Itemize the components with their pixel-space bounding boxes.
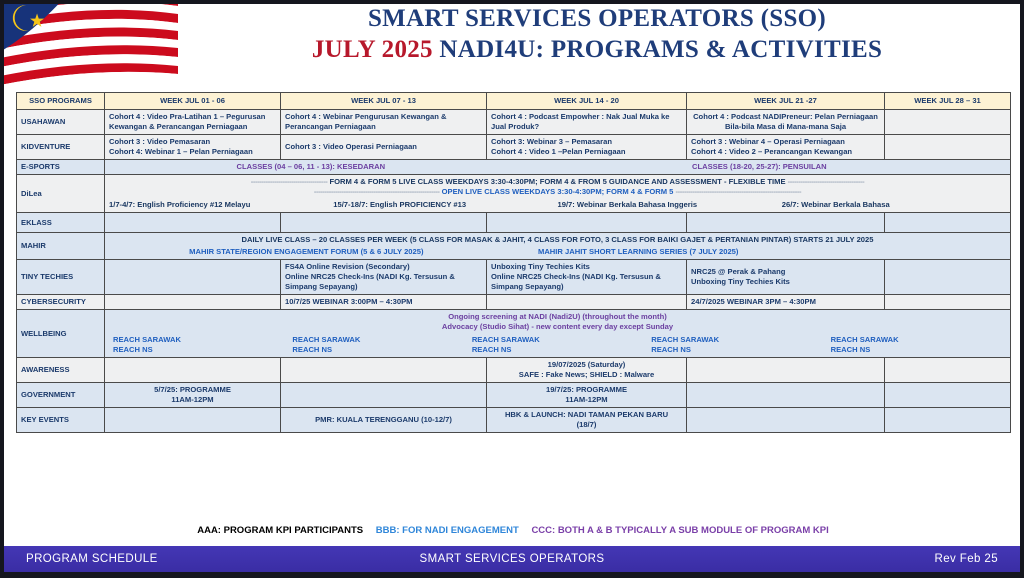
cell-cybersecurity-w5 [885,295,1011,310]
cell-kidventure-w2: Cohort 3 : Video Operasi Perniagaan [281,135,487,160]
cell-tiny-techies-w2-line2: Online NRC25 Check-Ins (NADI Kg. Tersusu… [285,272,482,292]
cell-kidventure-w1-line1: Cohort 3 : Video Pemasaran [109,137,276,147]
dilea-banner-1: ------------------------------------ FOR… [109,177,1006,187]
cell-government-w3: 19/7/25: PROGRAMME 11AM-12PM [487,383,687,408]
dash-decoration-right-2: ----------------------------------------… [676,187,802,196]
row-label-government: GOVERNMENT [17,383,105,408]
wellbeing-col-3-a: REACH SARAWAK [472,335,647,345]
legend-item-ccc: CCC: BOTH A & B TYPICALLY A SUB MODULE O… [531,525,828,536]
cell-awareness-w1 [105,358,281,383]
right-letterbox [1020,0,1024,578]
cell-key-events-w2: PMR: KUALA TERENGGANU (10-12/7) [281,408,487,433]
col-header-week3: WEEK JUL 14 - 20 [487,93,687,110]
malaysia-flag-icon [0,0,178,88]
cell-wellbeing-span: Ongoing screening at NADI (Nadi2U) (thro… [105,310,1011,358]
wellbeing-reach-grid: REACH SARAWAK REACH NS REACH SARAWAK REA… [109,335,1006,355]
wellbeing-col-3-b: REACH NS [472,345,647,355]
title-block: SMART SERVICES OPERATORS (SSO) JULY 2025… [180,4,1014,65]
dash-decoration-right: ------------------------------------ [788,177,865,186]
cell-kidventure-w4: Cohort 3 : Webinar 4 – Operasi Perniagaa… [687,135,885,160]
footer-bar: PROGRAM SCHEDULE SMART SERVICES OPERATOR… [0,546,1024,572]
mahir-series-text: MAHIR JAHIT SHORT LEARNING SERIES (7 JUL… [504,247,773,257]
cell-tiny-techies-w4: NRC25 @ Perak & Pahang Unboxing Tiny Tec… [687,260,885,295]
row-label-cybersecurity: CYBERSECURITY [17,295,105,310]
row-label-awareness: AWARENESS [17,358,105,383]
cell-usahawan-w3: Cohort 4 : Podcast Empowher : Nak Jual M… [487,110,687,135]
table-row-awareness: AWARENESS 19/07/2025 (Saturday) SAFE : F… [17,358,1011,383]
mahir-forum-text: MAHIR STATE/REGION ENGAGEMENT FORUM (5 &… [109,247,504,257]
table-row-wellbeing: WELLBEING Ongoing screening at NADI (Nad… [17,310,1011,358]
cell-cybersecurity-w4: 24/7/2025 WEBINAR 3PM – 4:30PM [687,295,885,310]
dash-decoration-left: ------------------------------------ [251,177,328,186]
footer-revision-label: Rev Feb 25 [935,553,998,565]
cell-government-w4 [687,383,885,408]
cell-esports-span: CLASSES (04 – 06, 11 - 13): KESEDARAN CL… [105,160,1011,175]
cell-kidventure-w3-line1: Cohort 3: Webinar 3 – Pemasaran [491,137,682,147]
cell-key-events-w4 [687,408,885,433]
cell-tiny-techies-w5 [885,260,1011,295]
dilea-item-4: 26/7: Webinar Berkala Bahasa [782,200,1006,210]
cell-government-w2 [281,383,487,408]
wellbeing-col-4-a: REACH SARAWAK [651,335,826,345]
wellbeing-col-4: REACH SARAWAK REACH NS [647,335,826,355]
dash-decoration-left-2: ----------------------------------------… [314,187,440,196]
row-label-eklass: EKLASS [17,213,105,233]
cell-kidventure-w1-line2: Cohort 4: Webinar 1 – Pelan Perniagaan [109,147,276,157]
cell-key-events-w3: HBK & LAUNCH: NADI TAMAN PEKAN BARU (18/… [487,408,687,433]
cell-eklass-w1 [105,213,281,233]
row-label-usahawan: USAHAWAN [17,110,105,135]
table-row-mahir: MAHIR DAILY LIVE CLASS – 20 CLASSES PER … [17,233,1011,260]
cell-awareness-w5 [885,358,1011,383]
cell-usahawan-w2: Cohort 4 : Webinar Pengurusan Kewangan &… [281,110,487,135]
slide-header: SMART SERVICES OPERATORS (SSO) JULY 2025… [0,0,1024,88]
col-header-programs: SSO PROGRAMS [17,93,105,110]
cell-tiny-techies-w1 [105,260,281,295]
wellbeing-col-2-b: REACH NS [292,345,467,355]
row-label-key-events: KEY EVENTS [17,408,105,433]
cell-government-w1-line2: 11AM-12PM [109,395,276,405]
cell-tiny-techies-w3-line2: Online NRC25 Check-Ins (NADI Kg. Tersusu… [491,272,682,292]
schedule-table: SSO PROGRAMS WEEK JUL 01 - 06 WEEK JUL 0… [16,92,1011,433]
dilea-banner-1-text: FORM 4 & FORM 5 LIVE CLASS WEEKDAYS 3:30… [329,177,785,186]
cell-awareness-w4 [687,358,885,383]
cell-eklass-w4 [687,213,885,233]
cell-usahawan-w4: Cohort 4 : Podcast NADIPreneur: Pelan Pe… [687,110,885,135]
wellbeing-col-3: REACH SARAWAK REACH NS [468,335,647,355]
wellbeing-col-4-b: REACH NS [651,345,826,355]
page-title-subject: NADI4U: PROGRAMS & ACTIVITIES [433,36,882,63]
cell-esports-right: CLASSES (18-20, 25-27): PENSUILAN [513,162,1006,172]
cell-kidventure-w4-line2: Cohort 4 : Video 2 – Perancangan Kewanga… [691,147,880,157]
table-body: USAHAWAN Cohort 4 : Video Pra-Latihan 1 … [17,110,1011,433]
slide-root: SMART SERVICES OPERATORS (SSO) JULY 2025… [0,0,1024,578]
dilea-item-1: 1/7-4/7: English Proficiency #12 Melayu [109,200,333,210]
bottom-letterbox [0,572,1024,578]
table-row-eklass: EKLASS [17,213,1011,233]
cell-cybersecurity-w2: 10/7/25 WEBINAR 3:00PM – 4:30PM [281,295,487,310]
page-title-month: JULY 2025 [312,36,433,63]
left-letterbox [0,0,4,578]
cell-government-w1-line1: 5/7/25: PROGRAMME [109,385,276,395]
table-head: SSO PROGRAMS WEEK JUL 01 - 06 WEEK JUL 0… [17,93,1011,110]
wellbeing-col-5-a: REACH SARAWAK [831,335,1006,345]
cell-government-w1: 5/7/25: PROGRAMME 11AM-12PM [105,383,281,408]
cell-government-w3-line1: 19/7/25: PROGRAMME [491,385,682,395]
row-label-esports: E-SPORTS [17,160,105,175]
row-label-tiny-techies: TINY TECHIES [17,260,105,295]
table-row-government: GOVERNMENT 5/7/25: PROGRAMME 11AM-12PM 1… [17,383,1011,408]
row-label-mahir: MAHIR [17,233,105,260]
cell-key-events-w1 [105,408,281,433]
wellbeing-col-2-a: REACH SARAWAK [292,335,467,345]
wellbeing-col-1-b: REACH NS [113,345,288,355]
cell-mahir-span: DAILY LIVE CLASS – 20 CLASSES PER WEEK (… [105,233,1011,260]
dilea-item-3: 19/7: Webinar Berkala Bahasa Inggeris [558,200,782,210]
cell-government-w5 [885,383,1011,408]
cell-kidventure-w3: Cohort 3: Webinar 3 – Pemasaran Cohort 4… [487,135,687,160]
cell-government-w3-line2: 11AM-12PM [491,395,682,405]
cell-awareness-w2 [281,358,487,383]
dilea-banner-2: ----------------------------------------… [109,187,1006,197]
cell-dilea-span: ------------------------------------ FOR… [105,175,1011,213]
cell-cybersecurity-w3 [487,295,687,310]
wellbeing-col-5: REACH SARAWAK REACH NS [827,335,1006,355]
cell-tiny-techies-w2-line1: FS4A Online Revision (Secondary) [285,262,482,272]
schedule-table-container: SSO PROGRAMS WEEK JUL 01 - 06 WEEK JUL 0… [16,92,1010,433]
cell-eklass-w2 [281,213,487,233]
table-row-tiny-techies: TINY TECHIES FS4A Online Revision (Secon… [17,260,1011,295]
mahir-bottom-row: MAHIR STATE/REGION ENGAGEMENT FORUM (5 &… [109,247,1006,257]
cell-tiny-techies-w4-line2: Unboxing Tiny Techies Kits [691,277,880,287]
cell-eklass-w3 [487,213,687,233]
cell-tiny-techies-w4-line1: NRC25 @ Perak & Pahang [691,267,880,277]
legend-item-bbb: BBB: FOR NADI ENGAGEMENT [376,525,519,536]
wellbeing-col-1-a: REACH SARAWAK [113,335,288,345]
cell-key-events-w5 [885,408,1011,433]
cell-key-events-w3-line2: (18/7) [491,420,682,430]
col-header-week4: WEEK JUL 21 -27 [687,93,885,110]
cell-awareness-w3: 19/07/2025 (Saturday) SAFE : Fake News; … [487,358,687,383]
table-row-dilea: DiLea ----------------------------------… [17,175,1011,213]
col-header-week5: WEEK JUL 28 – 31 [885,93,1011,110]
cell-tiny-techies-w3-line1: Unboxing Tiny Techies Kits [491,262,682,272]
top-letterbox [0,0,1024,4]
wellbeing-note-2: Advocacy (Studio Sihat) - new content ev… [109,322,1006,332]
cell-awareness-w3-line2: SAFE : Fake News; SHIELD : Malware [491,370,682,380]
dilea-items-row: 1/7-4/7: English Proficiency #12 Melayu … [109,200,1006,210]
mahir-top-text: DAILY LIVE CLASS – 20 CLASSES PER WEEK (… [109,235,1006,245]
row-label-wellbeing: WELLBEING [17,310,105,358]
wellbeing-col-1: REACH SARAWAK REACH NS [109,335,288,355]
cell-tiny-techies-w2: FS4A Online Revision (Secondary) Online … [281,260,487,295]
cell-kidventure-w1: Cohort 3 : Video Pemasaran Cohort 4: Web… [105,135,281,160]
legend-row: AAA: PROGRAM KPI PARTICIPANTS BBB: FOR N… [16,525,1010,536]
table-row-cybersecurity: CYBERSECURITY 10/7/25 WEBINAR 3:00PM – 4… [17,295,1011,310]
col-header-week2: WEEK JUL 07 - 13 [281,93,487,110]
table-row-usahawan: USAHAWAN Cohort 4 : Video Pra-Latihan 1 … [17,110,1011,135]
cell-cybersecurity-w1 [105,295,281,310]
cell-esports-left: CLASSES (04 – 06, 11 - 13): KESEDARAN [109,162,513,172]
cell-eklass-w5 [885,213,1011,233]
wellbeing-col-2: REACH SARAWAK REACH NS [288,335,467,355]
table-row-kidventure: KIDVENTURE Cohort 3 : Video Pemasaran Co… [17,135,1011,160]
page-title-line2: JULY 2025 NADI4U: PROGRAMS & ACTIVITIES [180,35,1014,66]
cell-kidventure-w5 [885,135,1011,160]
cell-awareness-w3-line1: 19/07/2025 (Saturday) [491,360,682,370]
cell-tiny-techies-w3: Unboxing Tiny Techies Kits Online NRC25 … [487,260,687,295]
dilea-item-2: 15/7-18/7: English PROFICIENCY #13 [333,200,557,210]
page-title-line1: SMART SERVICES OPERATORS (SSO) [180,4,1014,35]
wellbeing-note-1: Ongoing screening at NADI (Nadi2U) (thro… [109,312,1006,322]
cell-usahawan-w1: Cohort 4 : Video Pra-Latihan 1 – Pegurus… [105,110,281,135]
legend-item-aaa: AAA: PROGRAM KPI PARTICIPANTS [197,525,363,536]
row-label-kidventure: KIDVENTURE [17,135,105,160]
footer-center-label: SMART SERVICES OPERATORS [0,553,1024,565]
dilea-banner-2-text: OPEN LIVE CLASS WEEKDAYS 3:30-4:30PM; FO… [442,187,674,196]
header-row: SSO PROGRAMS WEEK JUL 01 - 06 WEEK JUL 0… [17,93,1011,110]
cell-key-events-w3-line1: HBK & LAUNCH: NADI TAMAN PEKAN BARU [491,410,682,420]
cell-kidventure-w4-line1: Cohort 3 : Webinar 4 – Operasi Perniagaa… [691,137,880,147]
table-row-esports: E-SPORTS CLASSES (04 – 06, 11 - 13): KES… [17,160,1011,175]
wellbeing-col-5-b: REACH NS [831,345,1006,355]
col-header-week1: WEEK JUL 01 - 06 [105,93,281,110]
cell-usahawan-w5 [885,110,1011,135]
row-label-dilea: DiLea [17,175,105,213]
table-row-key-events: KEY EVENTS PMR: KUALA TERENGGANU (10-12/… [17,408,1011,433]
cell-kidventure-w3-line2: Cohort 4 : Video 1 –Pelan Perniagaan [491,147,682,157]
